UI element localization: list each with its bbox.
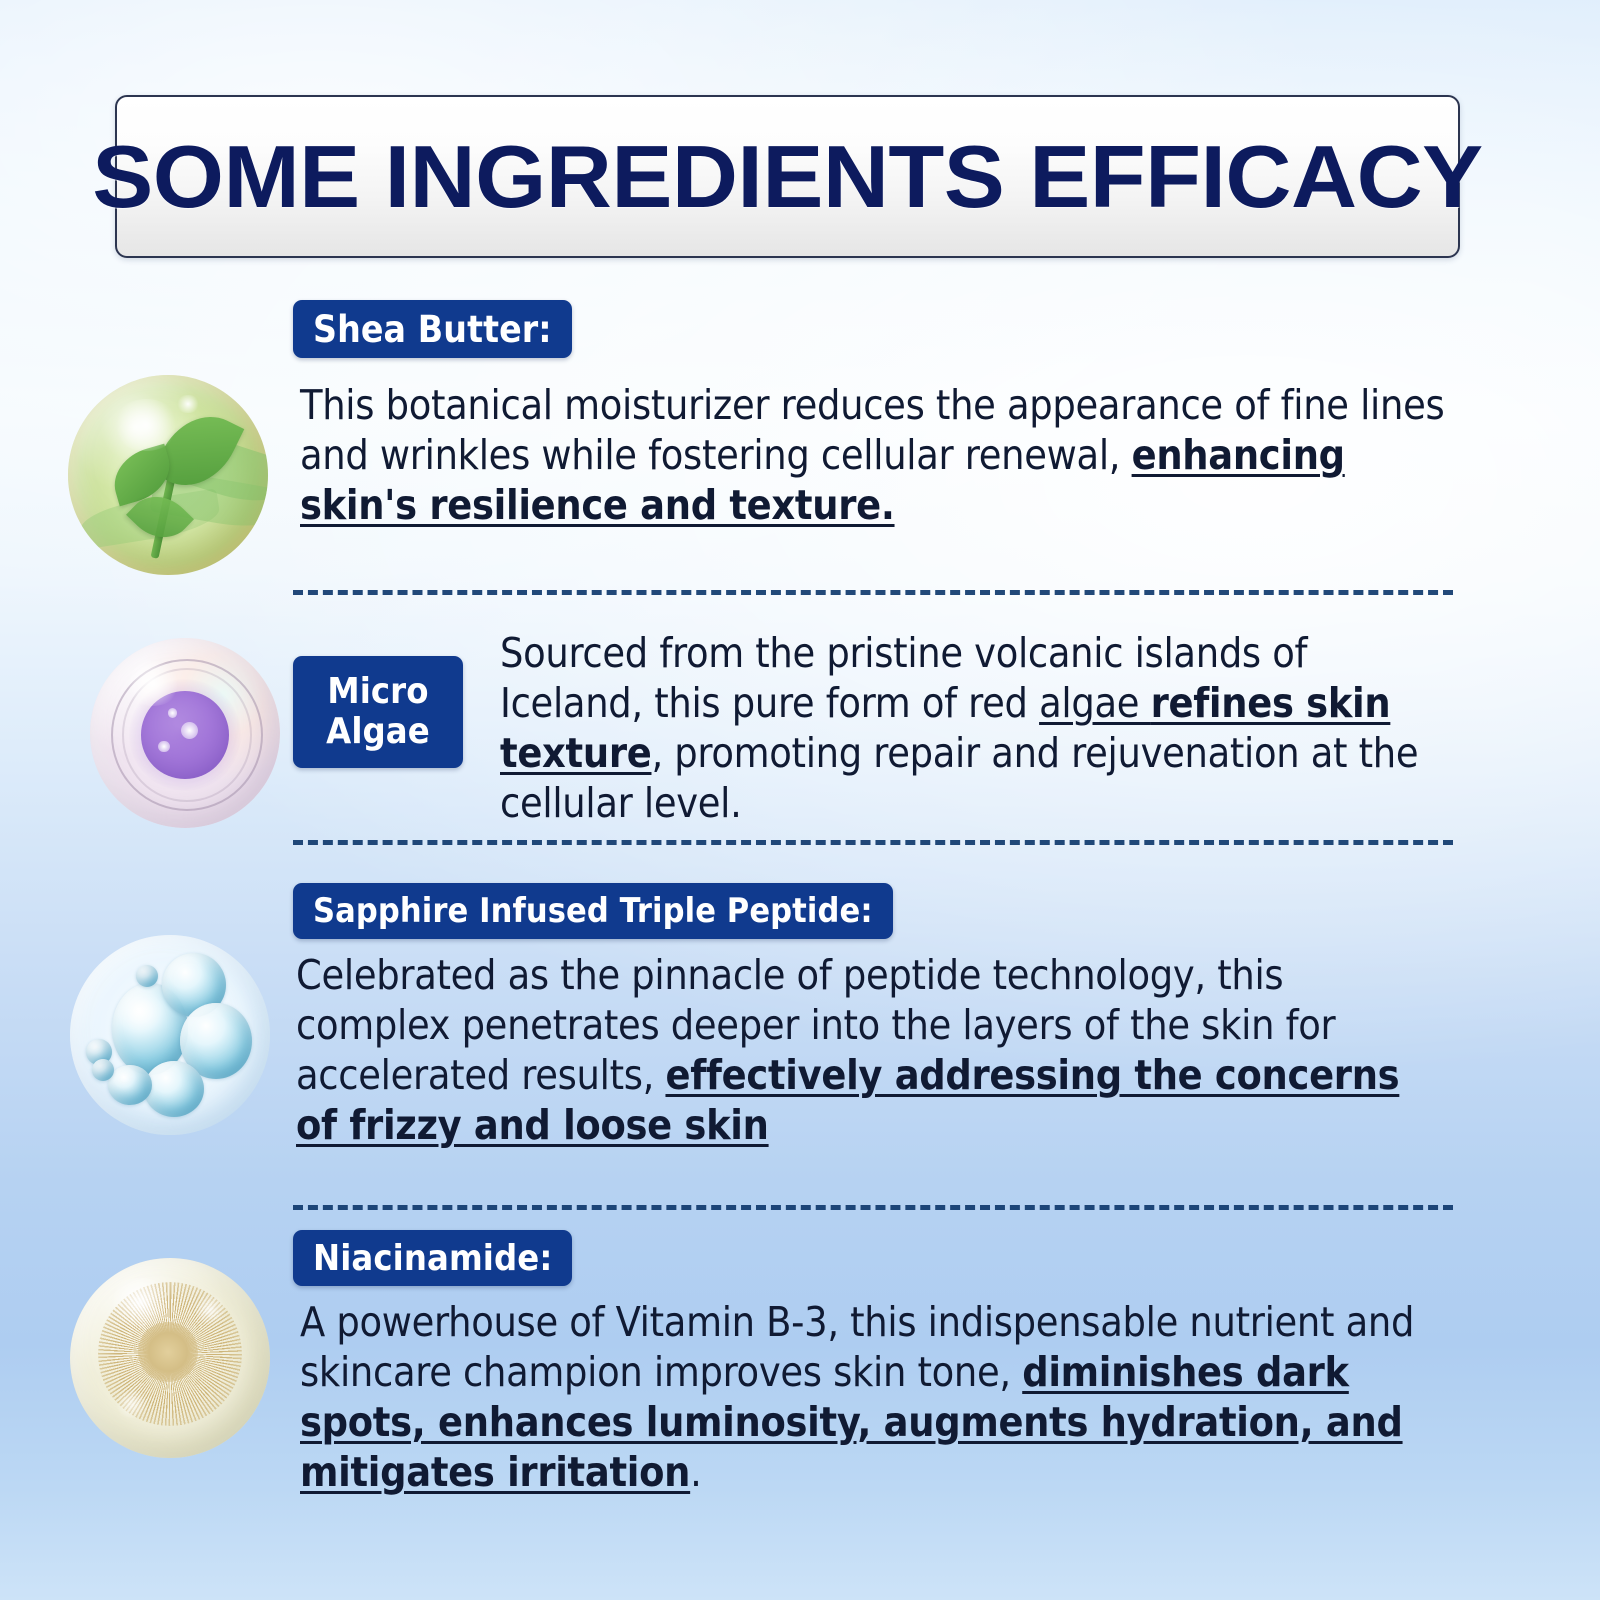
badge-micro-algae: Micro Algae — [293, 656, 463, 768]
green-sphere-leaf-icon — [68, 375, 268, 575]
divider-1 — [293, 590, 1453, 595]
lavender-cell-nucleus-icon — [90, 638, 280, 828]
blue-bubble-cluster-icon — [70, 935, 270, 1135]
body-shea-butter: This botanical moisturizer reduces the a… — [300, 380, 1450, 530]
body-text-underline: algae — [1039, 679, 1151, 727]
page-title-box: SOME INGREDIENTS EFFICACY — [115, 95, 1460, 258]
badge-sapphire-peptide: Sapphire Infused Triple Peptide: — [293, 883, 893, 939]
body-micro-algae: Sourced from the pristine volcanic islan… — [500, 628, 1452, 828]
golden-burst-sphere-icon — [70, 1258, 270, 1458]
badge-line-2: Algae — [326, 712, 430, 752]
page-title: SOME INGREDIENTS EFFICACY — [92, 126, 1482, 228]
body-sapphire-peptide: Celebrated as the pinnacle of peptide te… — [296, 950, 1446, 1150]
badge-line-1: Micro — [327, 672, 428, 712]
divider-2 — [293, 840, 1453, 845]
badge-niacinamide: Niacinamide: — [293, 1230, 572, 1286]
body-niacinamide: A powerhouse of Vitamin B-3, this indisp… — [300, 1297, 1450, 1497]
infographic-page: SOME INGREDIENTS EFFICACY Shea Butter: T… — [0, 0, 1600, 1600]
badge-shea-butter: Shea Butter: — [293, 300, 572, 358]
body-text-period: . — [690, 1448, 701, 1496]
divider-3 — [293, 1205, 1453, 1210]
